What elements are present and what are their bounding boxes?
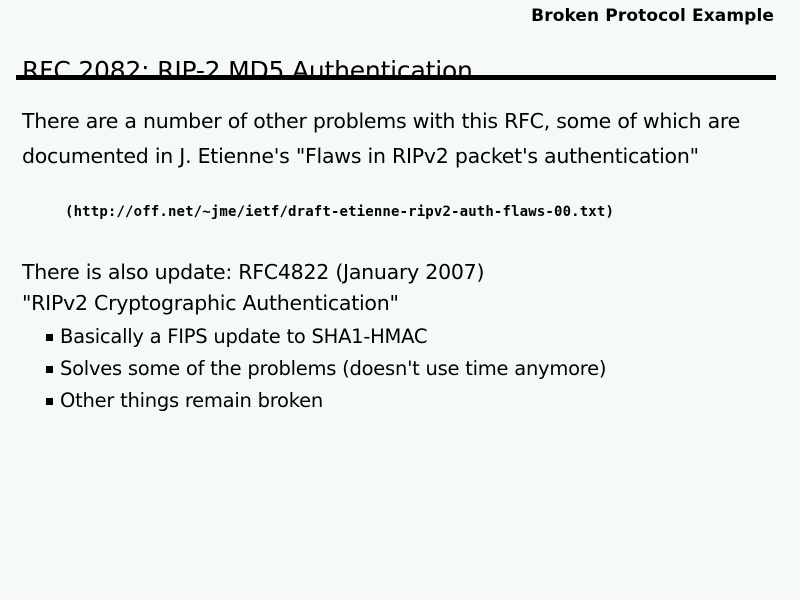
- title-divider: [16, 75, 776, 80]
- list-item-label: Solves some of the problems (doesn't use…: [60, 357, 606, 380]
- bullet-list: Basically a FIPS update to SHA1-HMAC Sol…: [22, 321, 780, 417]
- list-item-label: Basically a FIPS update to SHA1-HMAC: [60, 325, 427, 348]
- intro-line-1: There are a number of other problems wit…: [22, 104, 780, 139]
- url-reference: (http://off.net/~jme/ietf/draft-etienne-…: [65, 202, 780, 222]
- intro-line-2: documented in J. Etienne's "Flaws in RIP…: [22, 139, 780, 174]
- update-line-2: "RIPv2 Cryptographic Authentication": [22, 288, 780, 319]
- intro-paragraph: There are a number of other problems wit…: [22, 104, 780, 174]
- slide-header-label: Broken Protocol Example: [22, 6, 774, 27]
- list-item: Basically a FIPS update to SHA1-HMAC: [22, 321, 780, 353]
- update-line-1: There is also update: RFC4822 (January 2…: [22, 257, 780, 288]
- square-bullet-icon: [46, 334, 53, 341]
- list-item-label: Other things remain broken: [60, 389, 323, 412]
- list-item: Other things remain broken: [22, 385, 780, 417]
- update-paragraph: There is also update: RFC4822 (January 2…: [22, 257, 780, 319]
- page-title: RFC 2082: RIP-2 MD5 Authentication: [22, 55, 776, 87]
- slide-body: There are a number of other problems wit…: [22, 104, 780, 417]
- square-bullet-icon: [46, 398, 53, 405]
- square-bullet-icon: [46, 366, 53, 373]
- slide-canvas: Broken Protocol Example RFC 2082: RIP-2 …: [0, 0, 800, 600]
- list-item: Solves some of the problems (doesn't use…: [22, 353, 780, 385]
